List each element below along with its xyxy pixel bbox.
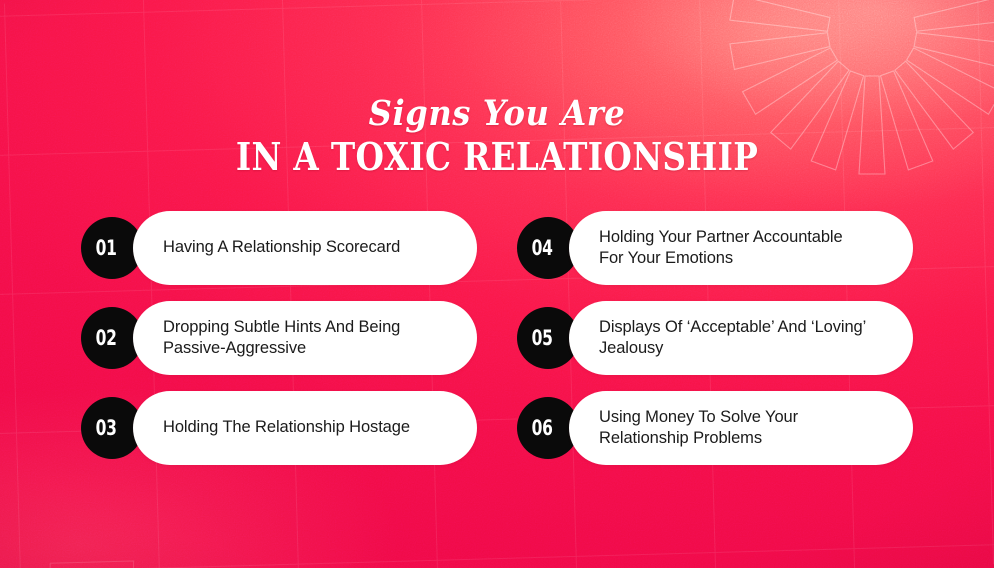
list-item[interactable]: 02 Dropping Subtle Hints And Being Passi…: [81, 301, 477, 375]
list-item[interactable]: 01 Having A Relationship Scorecard: [81, 211, 477, 285]
list-item[interactable]: 04 Holding Your Partner Accountable For …: [517, 211, 913, 285]
list-item[interactable]: 05 Displays Of ‘Acceptable’ And ‘Loving’…: [517, 301, 913, 375]
item-text: Holding Your Partner Accountable For You…: [569, 227, 867, 269]
item-number-label: 03: [96, 416, 117, 440]
item-pill[interactable]: Displays Of ‘Acceptable’ And ‘Loving’ Je…: [569, 301, 913, 375]
item-text: Using Money To Solve Your Relationship P…: [569, 407, 822, 449]
infographic-canvas: Signs You Are IN A TOXIC RELATIONSHIP 01…: [0, 0, 994, 568]
signs-list: 01 Having A Relationship Scorecard 04 Ho…: [81, 211, 913, 465]
title-line-2: IN A TOXIC RELATIONSHIP: [70, 138, 925, 176]
list-item[interactable]: 03 Holding The Relationship Hostage: [81, 391, 477, 465]
item-pill[interactable]: Holding The Relationship Hostage: [133, 391, 477, 465]
list-item[interactable]: 06 Using Money To Solve Your Relationshi…: [517, 391, 913, 465]
page-title: Signs You Are IN A TOXIC RELATIONSHIP: [0, 96, 994, 176]
title-line-1: Signs You Are: [40, 96, 954, 131]
item-text: Having A Relationship Scorecard: [133, 237, 424, 258]
item-number-label: 06: [532, 416, 553, 440]
item-number-label: 04: [532, 236, 553, 260]
item-pill[interactable]: Holding Your Partner Accountable For You…: [569, 211, 913, 285]
item-pill[interactable]: Dropping Subtle Hints And Being Passive-…: [133, 301, 477, 375]
item-text: Displays Of ‘Acceptable’ And ‘Loving’ Je…: [569, 317, 890, 359]
item-text: Dropping Subtle Hints And Being Passive-…: [133, 317, 424, 359]
item-number-label: 05: [532, 326, 553, 350]
item-text: Holding The Relationship Hostage: [133, 417, 434, 438]
item-number-label: 02: [96, 326, 117, 350]
item-number-label: 01: [96, 236, 117, 260]
item-pill[interactable]: Having A Relationship Scorecard: [133, 211, 477, 285]
item-pill[interactable]: Using Money To Solve Your Relationship P…: [569, 391, 913, 465]
